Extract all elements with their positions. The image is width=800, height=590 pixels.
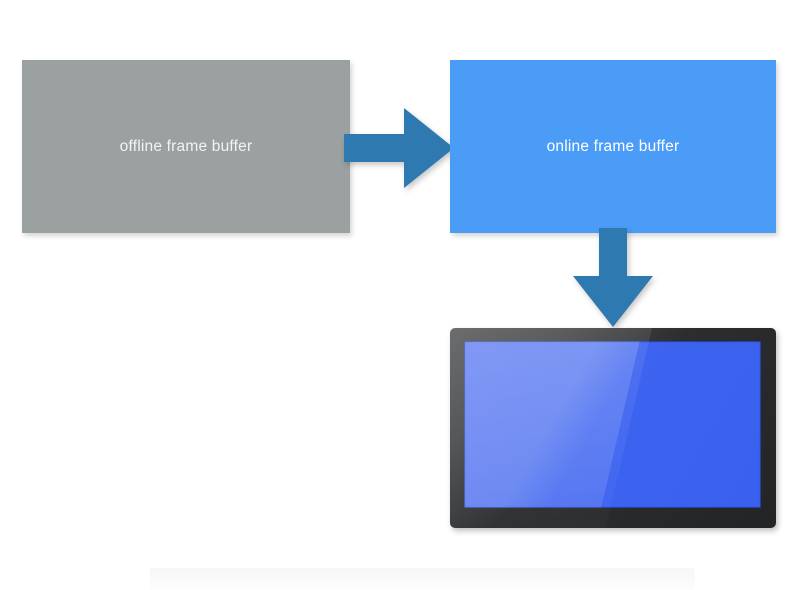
online-frame-buffer-label: online frame buffer [547,138,680,156]
arrow-down-icon[interactable] [566,228,660,330]
display-monitor[interactable] [450,328,776,528]
slide-bottom-edge [150,568,695,590]
offline-frame-buffer-box[interactable]: offline frame buffer [22,60,350,233]
arrow-right-icon[interactable] [344,106,456,190]
screen-gloss-highlight [464,341,642,508]
screen-inner-edge [464,341,761,508]
monitor-screen [464,341,761,508]
online-frame-buffer-box[interactable]: online frame buffer [450,60,776,233]
diagram-canvas: offline frame buffer online frame buffer [0,0,800,590]
offline-frame-buffer-label: offline frame buffer [120,138,253,156]
